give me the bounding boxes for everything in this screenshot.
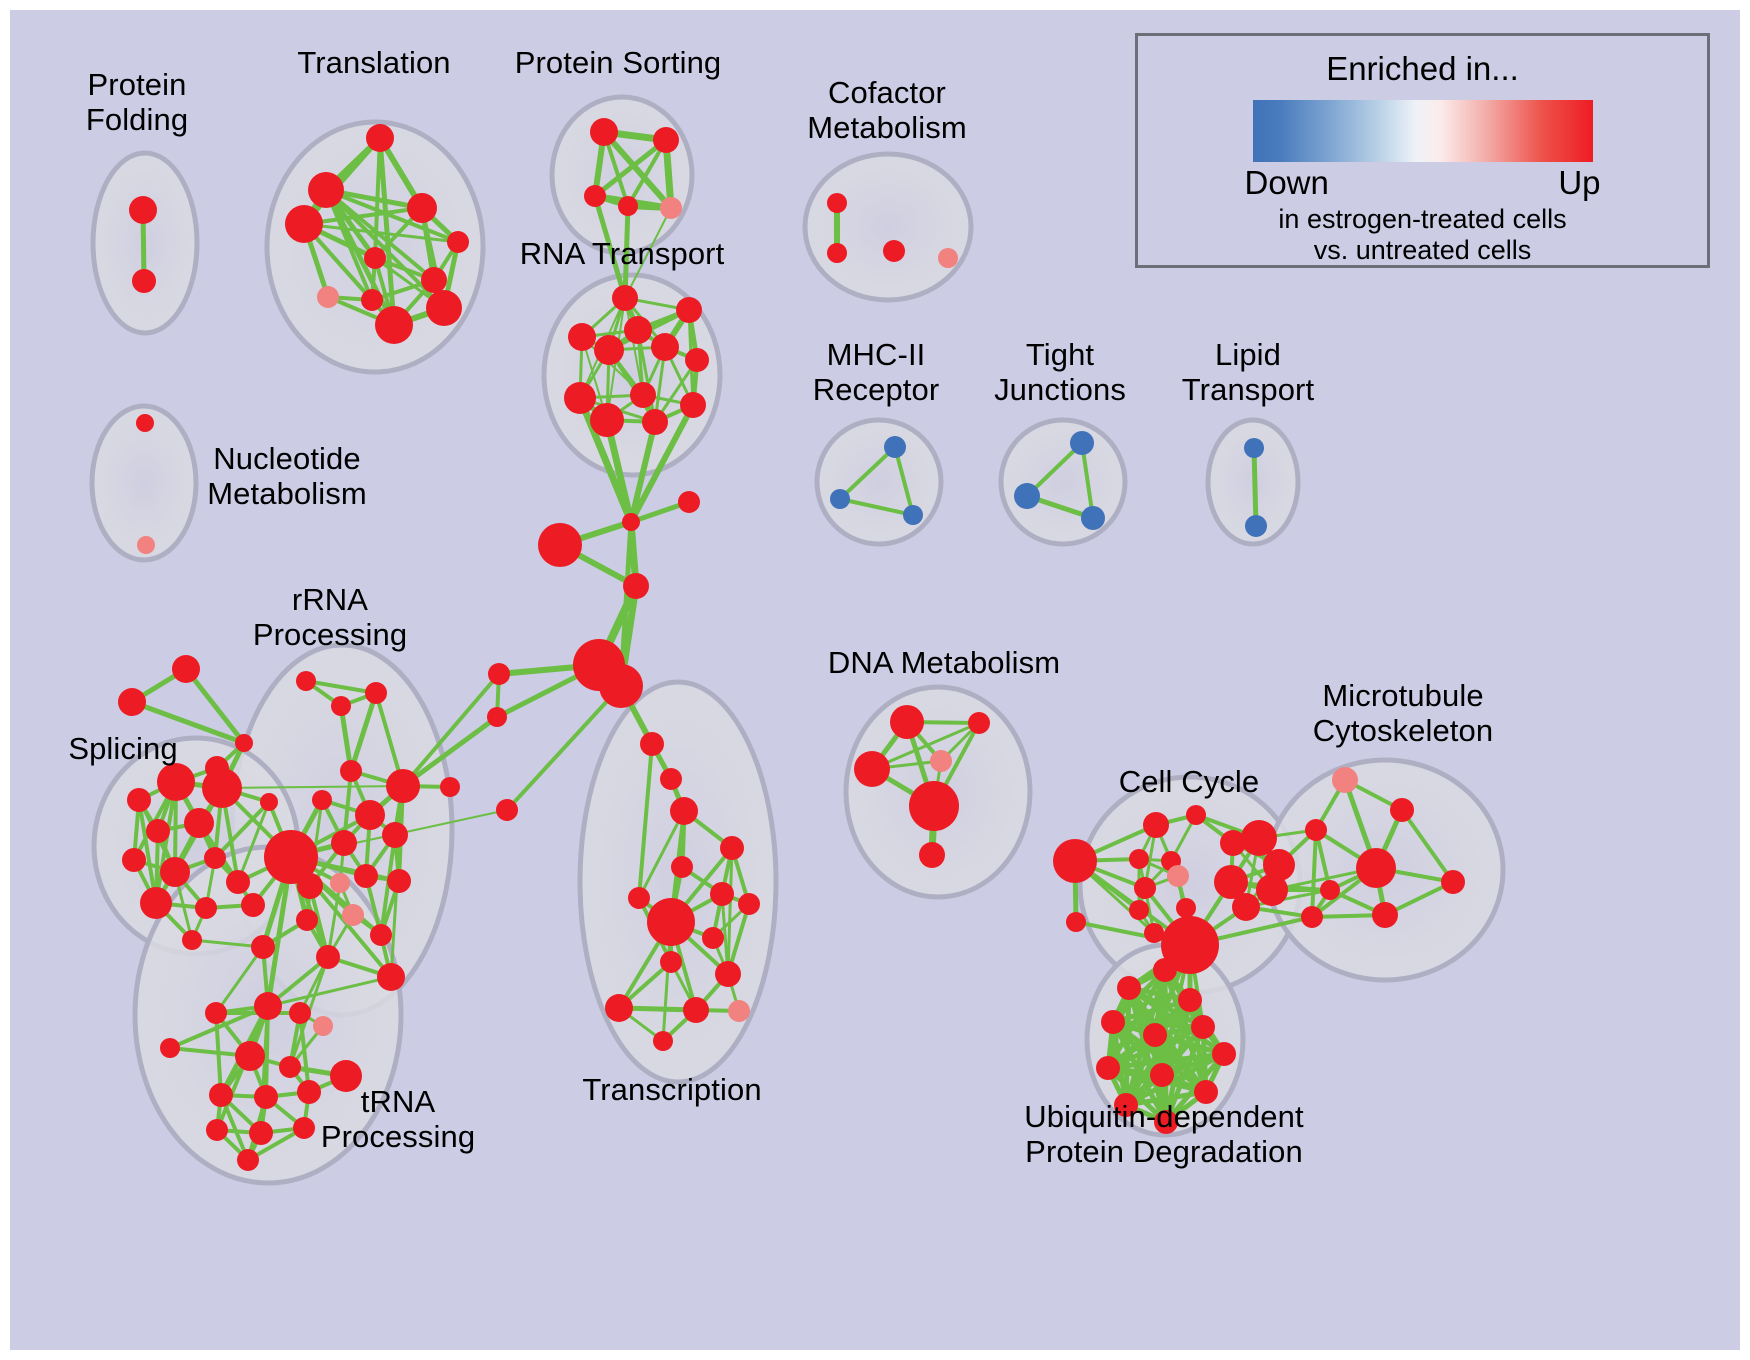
gene-set-node[interactable]	[660, 197, 682, 219]
gene-set-node[interactable]	[710, 882, 734, 906]
gene-set-node[interactable]	[377, 963, 405, 991]
legend-color-ramp	[1253, 100, 1593, 162]
gene-set-node[interactable]	[1143, 1023, 1167, 1047]
gene-set-node[interactable]	[1150, 1063, 1174, 1087]
gene-set-node[interactable]	[670, 797, 698, 825]
gene-set-node[interactable]	[1129, 849, 1149, 869]
gene-set-node[interactable]	[1194, 1080, 1218, 1104]
gene-set-node[interactable]	[683, 997, 709, 1023]
gene-set-node[interactable]	[1096, 1056, 1120, 1080]
gene-set-node[interactable]	[421, 267, 447, 293]
enrichment-map-figure: ProteinFoldingTranslationProtein Sorting…	[0, 0, 1750, 1360]
gene-set-node[interactable]	[1178, 988, 1202, 1012]
gene-set-node[interactable]	[317, 286, 339, 308]
gene-set-node[interactable]	[1212, 1042, 1236, 1066]
gene-set-node[interactable]	[930, 750, 952, 772]
gene-set-node[interactable]	[590, 118, 618, 146]
gene-set-node[interactable]	[1245, 515, 1267, 537]
gene-set-node[interactable]	[883, 240, 905, 262]
gene-set-node[interactable]	[297, 1080, 321, 1104]
gene-set-node[interactable]	[297, 873, 323, 899]
gene-set-node[interactable]	[172, 655, 200, 683]
gene-set-node[interactable]	[1372, 902, 1398, 928]
cluster-hull-tight-junctions[interactable]	[1001, 420, 1125, 544]
gene-set-node[interactable]	[235, 734, 253, 752]
gene-set-node[interactable]	[237, 1149, 259, 1171]
gene-set-node[interactable]	[1256, 874, 1288, 906]
gene-set-node[interactable]	[738, 893, 760, 915]
gene-set-node[interactable]	[1117, 976, 1141, 1000]
gene-set-node[interactable]	[1390, 798, 1414, 822]
gene-set-node[interactable]	[1186, 805, 1206, 825]
gene-set-node[interactable]	[226, 870, 250, 894]
gene-set-node[interactable]	[235, 1041, 265, 1071]
gene-set-node[interactable]	[1167, 865, 1189, 887]
gene-set-node[interactable]	[612, 285, 638, 311]
gene-set-node[interactable]	[685, 348, 709, 372]
edge[interactable]	[625, 206, 628, 298]
gene-set-node[interactable]	[254, 1085, 278, 1109]
legend-subtitle-line1: in estrogen-treated cells	[1138, 204, 1707, 235]
gene-set-node[interactable]	[564, 382, 596, 414]
gene-set-node[interactable]	[1101, 1010, 1125, 1034]
gene-set-node[interactable]	[1153, 958, 1177, 982]
gene-set-node[interactable]	[260, 793, 278, 811]
gene-set-node[interactable]	[640, 732, 664, 756]
gene-set-node[interactable]	[241, 893, 265, 917]
gene-set-node[interactable]	[599, 664, 643, 708]
gene-set-node[interactable]	[1305, 819, 1327, 841]
gene-set-node[interactable]	[160, 857, 190, 887]
gene-set-node[interactable]	[370, 924, 392, 946]
gene-set-node[interactable]	[312, 790, 332, 810]
gene-set-node[interactable]	[660, 768, 682, 790]
gene-set-node[interactable]	[365, 682, 387, 704]
gene-set-node[interactable]	[1320, 880, 1340, 900]
gene-set-node[interactable]	[1143, 812, 1169, 838]
gene-set-node[interactable]	[590, 403, 624, 437]
legend-endpoints: Down Up	[1223, 164, 1623, 204]
gene-set-node[interactable]	[251, 935, 275, 959]
gene-set-node[interactable]	[1301, 906, 1323, 928]
gene-set-node[interactable]	[968, 712, 990, 734]
gene-set-node[interactable]	[340, 760, 362, 782]
gene-set-node[interactable]	[386, 769, 420, 803]
legend-title: Enriched in...	[1138, 50, 1707, 88]
gene-set-node[interactable]	[630, 382, 656, 408]
gene-set-node[interactable]	[628, 887, 650, 909]
cluster-hull-cofactor-metabolism[interactable]	[805, 154, 971, 300]
gene-set-node[interactable]	[330, 873, 350, 893]
gene-set-node[interactable]	[884, 436, 906, 458]
gene-set-node[interactable]	[1144, 923, 1164, 943]
gene-set-node[interactable]	[1356, 848, 1396, 888]
gene-set-node[interactable]	[496, 799, 518, 821]
gene-set-node[interactable]	[440, 777, 460, 797]
gene-set-node[interactable]	[1332, 767, 1358, 793]
gene-set-node[interactable]	[316, 945, 340, 969]
gene-set-node[interactable]	[642, 409, 668, 435]
gene-set-node[interactable]	[1244, 438, 1264, 458]
gene-set-node[interactable]	[293, 1117, 315, 1139]
gene-set-node[interactable]	[313, 1016, 333, 1036]
gene-set-node[interactable]	[140, 887, 172, 919]
gene-set-node[interactable]	[647, 898, 695, 946]
gene-set-node[interactable]	[568, 323, 596, 351]
gene-set-node[interactable]	[715, 961, 741, 987]
gene-set-node[interactable]	[903, 505, 923, 525]
gene-set-node[interactable]	[204, 847, 226, 869]
gene-set-node[interactable]	[387, 869, 411, 893]
gene-set-node[interactable]	[249, 1121, 273, 1145]
legend-box: Enriched in... Down Up in estrogen-treat…	[1135, 33, 1710, 268]
gene-set-node[interactable]	[854, 751, 890, 787]
gene-set-node[interactable]	[279, 1056, 301, 1078]
gene-set-node[interactable]	[355, 800, 385, 830]
gene-set-node[interactable]	[660, 951, 682, 973]
gene-set-node[interactable]	[182, 930, 202, 950]
gene-set-node[interactable]	[1053, 839, 1097, 883]
gene-set-node[interactable]	[157, 763, 195, 801]
gene-set-node[interactable]	[827, 243, 847, 263]
gene-set-node[interactable]	[1070, 431, 1094, 455]
gene-set-node[interactable]	[702, 927, 724, 949]
legend-subtitle-line2: vs. untreated cells	[1138, 235, 1707, 266]
gene-set-node[interactable]	[366, 124, 394, 152]
gene-set-node[interactable]	[1176, 898, 1196, 918]
gene-set-node[interactable]	[1241, 820, 1277, 856]
gene-set-node[interactable]	[331, 830, 357, 856]
gene-set-node[interactable]	[728, 1000, 750, 1022]
gene-set-node[interactable]	[132, 269, 156, 293]
gene-set-node[interactable]	[488, 663, 510, 685]
gene-set-node[interactable]	[129, 196, 157, 224]
gene-set-node[interactable]	[382, 822, 408, 848]
gene-set-node[interactable]	[720, 836, 744, 860]
gene-set-node[interactable]	[127, 788, 151, 812]
gene-set-node[interactable]	[622, 513, 640, 531]
gene-set-node[interactable]	[118, 688, 146, 716]
gene-set-node[interactable]	[308, 172, 344, 208]
gene-set-node[interactable]	[296, 671, 316, 691]
gene-set-node[interactable]	[1066, 912, 1086, 932]
gene-set-node[interactable]	[671, 856, 693, 878]
gene-set-node[interactable]	[1134, 877, 1156, 899]
gene-set-node[interactable]	[1014, 483, 1040, 509]
gene-set-node[interactable]	[909, 781, 959, 831]
gene-set-node[interactable]	[653, 1031, 673, 1051]
edge[interactable]	[1254, 448, 1256, 526]
gene-set-node[interactable]	[354, 864, 378, 888]
gene-set-node[interactable]	[254, 992, 282, 1020]
gene-set-node[interactable]	[137, 536, 155, 554]
gene-set-node[interactable]	[209, 1083, 233, 1107]
legend-up-label: Up	[1558, 164, 1600, 202]
gene-set-node[interactable]	[827, 193, 847, 213]
gene-set-node[interactable]	[830, 489, 850, 509]
gene-set-node[interactable]	[1129, 900, 1149, 920]
gene-set-node[interactable]	[676, 297, 702, 323]
gene-set-node[interactable]	[361, 289, 383, 311]
gene-set-node[interactable]	[651, 333, 679, 361]
gene-set-node[interactable]	[205, 1002, 227, 1024]
gene-set-node[interactable]	[331, 696, 351, 716]
gene-set-node[interactable]	[184, 808, 214, 838]
gene-set-node[interactable]	[1441, 870, 1465, 894]
gene-set-node[interactable]	[330, 1060, 362, 1092]
gene-set-node[interactable]	[447, 231, 469, 253]
gene-set-node[interactable]	[1114, 1093, 1138, 1117]
gene-set-node[interactable]	[919, 842, 945, 868]
gene-set-node[interactable]	[938, 248, 958, 268]
gene-set-node[interactable]	[605, 994, 633, 1022]
gene-set-node[interactable]	[285, 205, 323, 243]
gene-set-node[interactable]	[122, 848, 146, 872]
gene-set-node[interactable]	[678, 491, 700, 513]
gene-set-node[interactable]	[136, 414, 154, 432]
gene-set-node[interactable]	[289, 1002, 311, 1024]
gene-set-node[interactable]	[342, 904, 364, 926]
gene-set-node[interactable]	[624, 316, 652, 344]
gene-set-node[interactable]	[584, 185, 606, 207]
gene-set-node[interactable]	[538, 523, 582, 567]
gene-set-node[interactable]	[618, 196, 638, 216]
gene-set-node[interactable]	[487, 707, 507, 727]
gene-set-node[interactable]	[1081, 506, 1105, 530]
gene-set-node[interactable]	[195, 897, 217, 919]
gene-set-node[interactable]	[160, 1038, 180, 1058]
network-panel: ProteinFoldingTranslationProtein Sorting…	[10, 10, 1740, 1350]
gene-set-node[interactable]	[364, 247, 386, 269]
gene-set-node[interactable]	[205, 756, 229, 780]
legend-down-label: Down	[1245, 164, 1329, 202]
cluster-hull-mhc-ii-receptor[interactable]	[817, 420, 941, 544]
gene-set-node[interactable]	[206, 1119, 228, 1141]
gene-set-node[interactable]	[1154, 1110, 1178, 1134]
gene-set-node[interactable]	[623, 573, 649, 599]
gene-set-node[interactable]	[1191, 1015, 1215, 1039]
gene-set-node[interactable]	[594, 335, 624, 365]
gene-set-node[interactable]	[407, 193, 437, 223]
gene-set-node[interactable]	[890, 705, 924, 739]
gene-set-node[interactable]	[296, 909, 318, 931]
gene-set-node[interactable]	[146, 819, 170, 843]
gene-set-node[interactable]	[375, 306, 413, 344]
gene-set-node[interactable]	[680, 392, 706, 418]
gene-set-node[interactable]	[1232, 893, 1260, 921]
gene-set-node[interactable]	[653, 127, 679, 153]
gene-set-node[interactable]	[426, 290, 462, 326]
